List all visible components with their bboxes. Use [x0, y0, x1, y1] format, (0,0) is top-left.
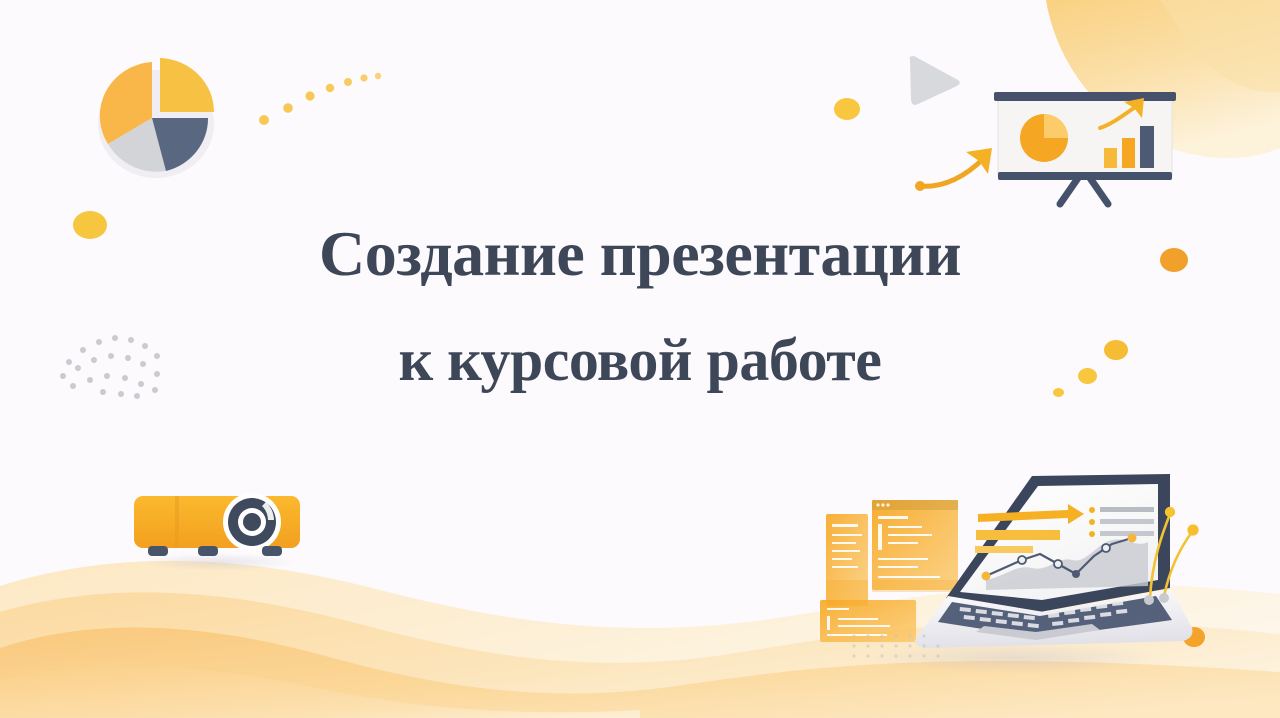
orange-dots-icon [834, 98, 860, 120]
slide-cards-icon [820, 500, 958, 642]
presentation-slide: Создание презентации к курсовой работе [0, 0, 1280, 718]
projector-icon [122, 482, 312, 572]
presentation-board-icon [992, 86, 1178, 208]
triangle-icon [900, 52, 970, 112]
dot-grid-under-laptop-icon [848, 628, 958, 668]
wave-shape-4 [0, 666, 640, 718]
dot-arc-trail-icon [250, 58, 390, 138]
page-title: Создание презентации к курсовой работе [0, 222, 1280, 390]
laptop-screen-content [975, 504, 1154, 590]
title-line-2: к курсовой работе [0, 330, 1280, 390]
title-line-1: Создание презентации [0, 222, 1280, 286]
pie-chart-icon [74, 46, 234, 186]
curve-dots-icon [1140, 492, 1260, 612]
